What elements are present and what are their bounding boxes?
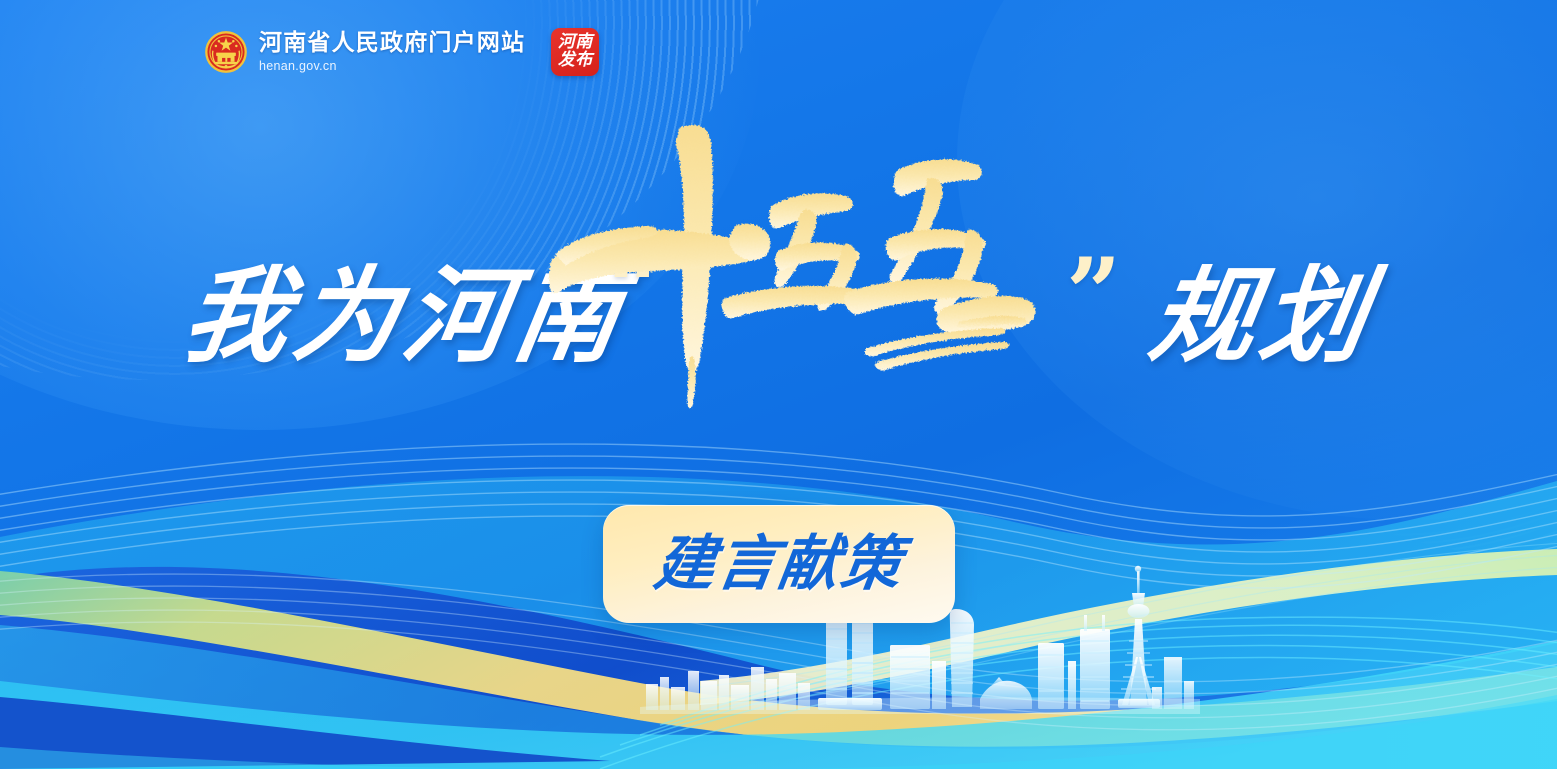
henan-release-badge-icon[interactable]: 河南 发布 bbox=[551, 28, 599, 76]
cta-button[interactable]: 建言献策 bbox=[603, 505, 955, 623]
cta-label: 建言献策 bbox=[650, 534, 906, 594]
site-url: henan.gov.cn bbox=[259, 60, 525, 73]
site-identity: 河南省人民政府门户网站 henan.gov.cn bbox=[259, 31, 525, 73]
henan-five-year-plan-banner: 河南省人民政府门户网站 henan.gov.cn 河南 发布 我为河南 规划 “… bbox=[0, 0, 1557, 769]
headline-right-text: 规划 bbox=[1143, 264, 1379, 368]
badge-line-2: 发布 bbox=[558, 52, 593, 70]
calligraphy-shiwuwu bbox=[529, 110, 1049, 410]
site-header: 河南省人民政府门户网站 henan.gov.cn 河南 发布 bbox=[205, 28, 599, 76]
site-name: 河南省人民政府门户网站 bbox=[259, 31, 525, 54]
china-national-emblem-icon bbox=[205, 31, 247, 73]
quote-close-mark: ” bbox=[1066, 246, 1121, 342]
hero-title-block: 我为河南 规划 “ ” bbox=[0, 118, 1557, 528]
